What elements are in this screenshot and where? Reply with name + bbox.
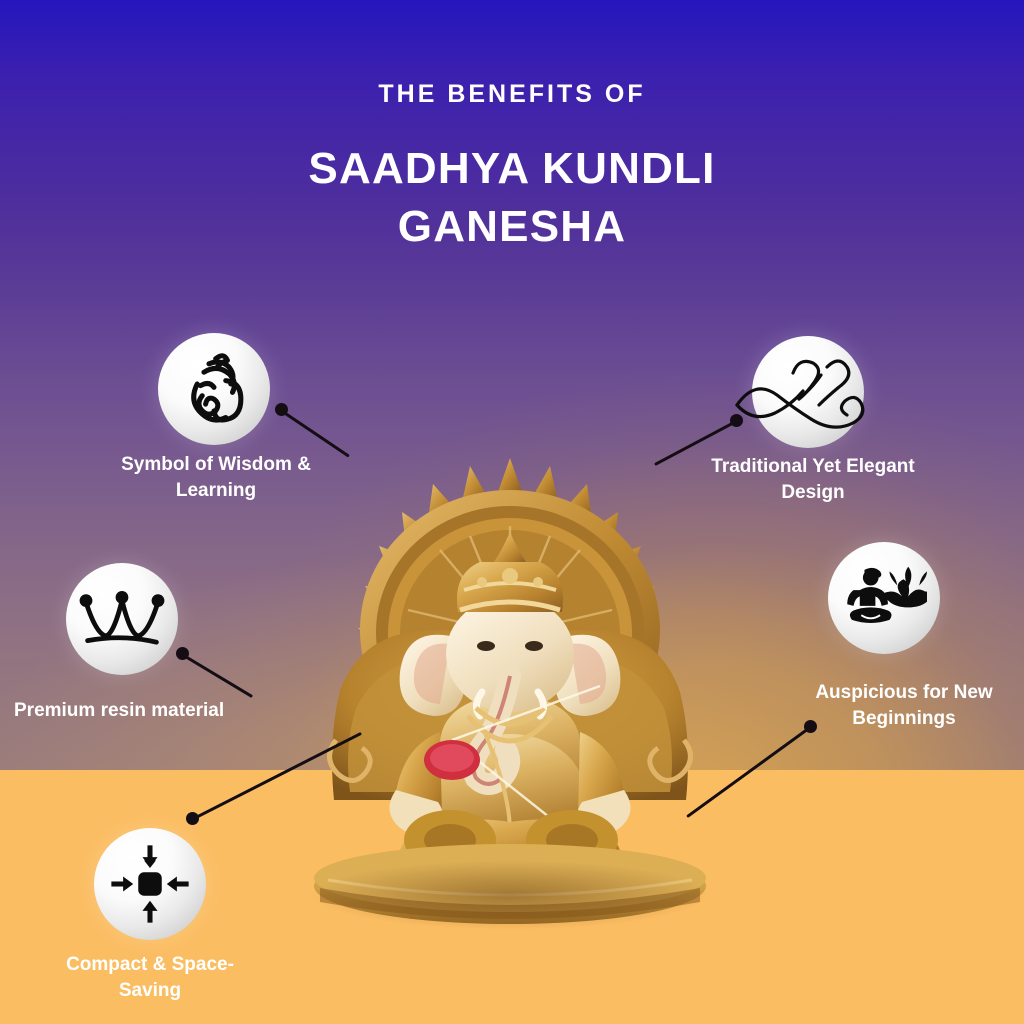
benefit-label-auspicious: Auspicious for New Beginnings: [784, 680, 1024, 732]
benefit-label-design-line-1: Traditional Yet Elegant: [711, 456, 914, 477]
meditation-lotus-icon: [841, 562, 927, 634]
benefit-badge-auspicious[interactable]: [828, 542, 940, 654]
crown-icon: [78, 583, 166, 655]
benefit-label-material: Premium resin material: [14, 698, 274, 724]
benefit-label-compact: Compact & Space- Saving: [28, 952, 272, 1004]
benefit-label-wisdom-line-1: Symbol of Wisdom &: [121, 454, 311, 475]
page-title-line-2: GANESHA: [0, 198, 1024, 256]
calligraphy-flourish-icon: [733, 337, 883, 447]
benefit-label-design-line-2: Design: [781, 482, 844, 503]
benefit-label-compact-line-2: Saving: [119, 980, 181, 1001]
benefit-badge-compact[interactable]: [94, 828, 206, 940]
benefit-label-design: Traditional Yet Elegant Design: [698, 454, 928, 506]
ganesha-head-icon: [172, 347, 256, 431]
benefit-label-auspicious-line-1: Auspicious for New: [815, 682, 992, 703]
benefit-badge-material[interactable]: [66, 563, 178, 675]
infographic-poster: THE BENEFITS OF SAADHYA KUNDLI GANESHA: [0, 0, 1024, 1024]
page-title: SAADHYA KUNDLI GANESHA: [0, 140, 1024, 256]
benefit-label-auspicious-line-2: Beginnings: [852, 708, 955, 729]
benefit-badge-design[interactable]: [752, 336, 864, 448]
benefit-label-material-line-1: Premium resin material: [14, 700, 224, 721]
benefit-label-wisdom-line-2: Learning: [176, 480, 256, 501]
page-title-line-1: SAADHYA KUNDLI: [0, 140, 1024, 198]
benefit-label-wisdom: Symbol of Wisdom & Learning: [110, 452, 322, 504]
poster-eyebrow: THE BENEFITS OF: [0, 80, 1024, 109]
ganesha-statue-image: [300, 440, 720, 940]
benefit-label-compact-line-1: Compact & Space-: [66, 954, 234, 975]
benefit-badge-wisdom[interactable]: [158, 333, 270, 445]
statue-shadow: [310, 860, 710, 930]
compress-arrows-icon: [108, 842, 192, 926]
